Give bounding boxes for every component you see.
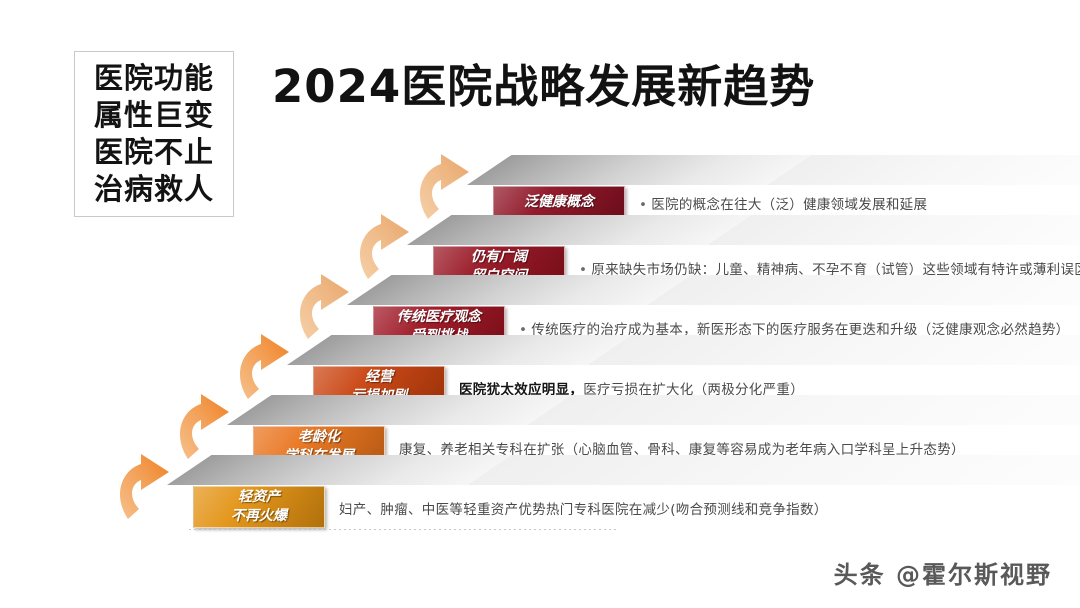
step-tread-highlight: [647, 275, 1080, 305]
step-6-description-text: 妇产、肿瘤、中医等轻重资产优势热门专科医院在减少(吻合预测线和竞争指数）: [339, 502, 828, 518]
step-tread-highlight: [527, 395, 1080, 425]
slide-canvas: 医院功能 属性巨变 医院不止 治病救人 2024医院战略发展新趋势 泛健康概念•…: [0, 0, 1080, 608]
step-tread-highlight: [467, 455, 1080, 485]
step-6-description: 妇产、肿瘤、中医等轻重资产优势热门专科医院在减少(吻合预测线和竞争指数）: [339, 498, 828, 518]
step-6-plaque[interactable]: 轻资产不再火爆: [193, 486, 325, 528]
watermark-label: 头条 @霍尔斯视野: [834, 555, 1052, 590]
step-4-label-line-1: 经营: [365, 368, 393, 387]
step-tread: [167, 455, 511, 485]
step-2-label-line-1: 仍有广阔: [471, 248, 527, 267]
step-tread: [347, 275, 691, 305]
step-5-label-line-1: 老龄化: [298, 428, 340, 447]
step-6-label-line-2: 不再火爆: [231, 507, 287, 526]
step-tread: [467, 155, 811, 185]
staircase-diagram: 泛健康概念•医院的概念在往大（泛）健康领域发展和延展仍有广阔留白空间•原来缺失市…: [0, 160, 1080, 560]
step-baseline-dots: [189, 529, 619, 530]
kicker-line-2: 属性巨变: [94, 97, 214, 134]
step-tread-highlight: [587, 335, 1080, 365]
step-tread: [287, 335, 631, 365]
step-1-description-text: 医院的概念在往大（泛）健康领域发展和延展: [651, 197, 927, 213]
step-1-label-line-1: 泛健康概念: [524, 193, 594, 212]
step-6-label-line-1: 轻资产: [238, 488, 280, 507]
page-title: 2024医院战略发展新趋势: [272, 50, 815, 115]
kicker-line-1: 医院功能: [94, 60, 214, 97]
bullet-icon: •: [639, 197, 647, 213]
step-tread-highlight: [707, 215, 1080, 245]
step-1-description: •医院的概念在往大（泛）健康领域发展和延展: [639, 193, 927, 213]
step-tread: [227, 395, 571, 425]
step-tread-highlight: [767, 155, 1080, 185]
curved-up-arrow-icon: [117, 453, 191, 523]
step-tread: [407, 215, 751, 245]
step-3-label-line-1: 传统医疗观念: [397, 308, 481, 327]
